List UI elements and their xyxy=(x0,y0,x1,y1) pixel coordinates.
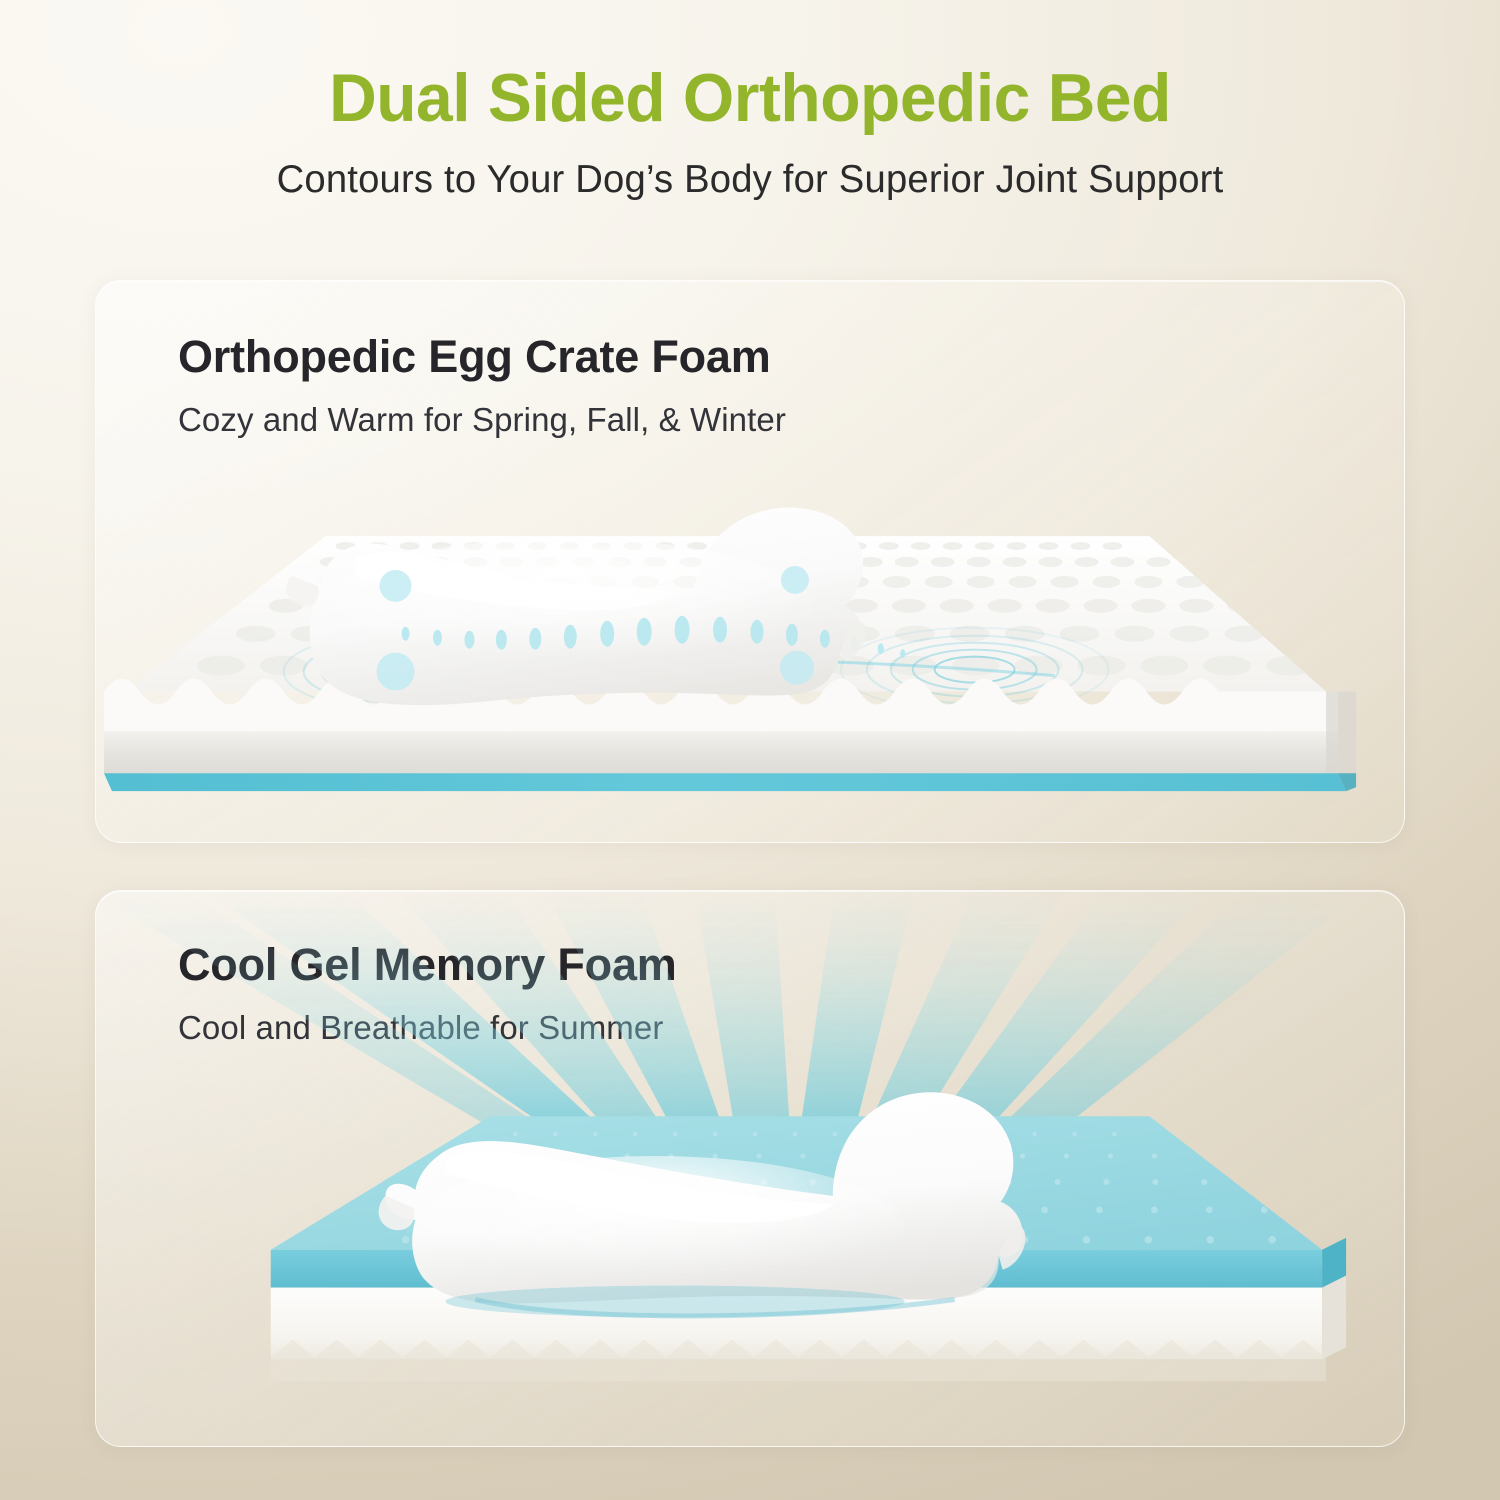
white-base-sawtooth-edge xyxy=(271,1339,1326,1381)
cooling-ray xyxy=(865,891,1065,1134)
dog-body-soft-shade xyxy=(316,538,815,681)
dog-ear-gel xyxy=(999,1227,1026,1270)
page-subtitle: Contours to Your Dog’s Body for Superior… xyxy=(15,158,1485,202)
white-base-slab xyxy=(271,1288,1322,1360)
egg-crate-top-surface xyxy=(126,536,1326,691)
egg-crate-core-side xyxy=(104,731,1338,773)
cooling-ray xyxy=(695,891,790,1130)
teal-support-base-layer xyxy=(104,773,1346,791)
dog-body-highlight xyxy=(356,552,676,611)
cooling-ray xyxy=(800,891,915,1130)
gel-foam-front-edge xyxy=(271,1250,1322,1288)
pressure-ripple-left xyxy=(284,634,508,710)
card-subtitle-egg-crate: Cozy and Warm for Spring, Fall, & Winter xyxy=(178,401,786,439)
dog-body-shape xyxy=(291,508,863,706)
dog-joint-dots xyxy=(377,566,814,691)
dog-muzzle-gel xyxy=(957,1256,999,1298)
gel-press-in-curve xyxy=(475,1300,954,1316)
feature-card-egg-crate: Orthopedic Egg Crate Foam Cozy and Warm … xyxy=(95,280,1405,843)
dog-body-shape-gel xyxy=(386,1092,1023,1303)
teal-base-right-face xyxy=(1338,773,1356,791)
feature-card-cool-gel: Cool Gel Memory Foam Cool and Breathable… xyxy=(95,890,1405,1447)
gel-foam-right-edge xyxy=(1322,1238,1346,1288)
page-title: Dual Sided Orthopedic Bed xyxy=(23,64,1478,132)
dog-contour-form-cool-gel xyxy=(379,1092,1026,1317)
cooling-ray xyxy=(985,891,1364,1142)
card-title-cool-gel: Cool Gel Memory Foam xyxy=(178,939,677,991)
dog-spine-dots xyxy=(402,616,906,658)
infographic-page: Dual Sided Orthopedic Bed Contours to Yo… xyxy=(0,0,1500,1500)
pressure-wave-band xyxy=(346,659,1055,678)
dog-tail-tip xyxy=(841,622,866,661)
dog-front-leg xyxy=(286,576,318,606)
pressure-ripple-right xyxy=(841,628,1109,712)
dog-body-highlight-gel xyxy=(445,1152,834,1223)
egg-crate-front-wave xyxy=(104,679,1338,750)
cooling-ray xyxy=(925,891,1205,1138)
egg-crate-core-right-face xyxy=(1326,692,1356,776)
gel-foam-top-surface xyxy=(271,1116,1322,1250)
card-title-egg-crate: Orthopedic Egg Crate Foam xyxy=(178,331,771,383)
white-base-right-face xyxy=(1322,1276,1346,1360)
dog-front-paw-gel xyxy=(379,1196,415,1230)
dog-body-soft-shade-gel xyxy=(406,1156,905,1303)
card-subtitle-cool-gel: Cool and Breathable for Summer xyxy=(178,1009,663,1047)
gel-dimple-texture xyxy=(402,1132,1276,1244)
dog-contact-shadow xyxy=(445,1286,904,1318)
egg-crate-bump-texture xyxy=(197,542,1314,676)
header: Dual Sided Orthopedic Bed Contours to Yo… xyxy=(0,64,1500,202)
dog-contour-form-egg-crate xyxy=(286,508,905,706)
